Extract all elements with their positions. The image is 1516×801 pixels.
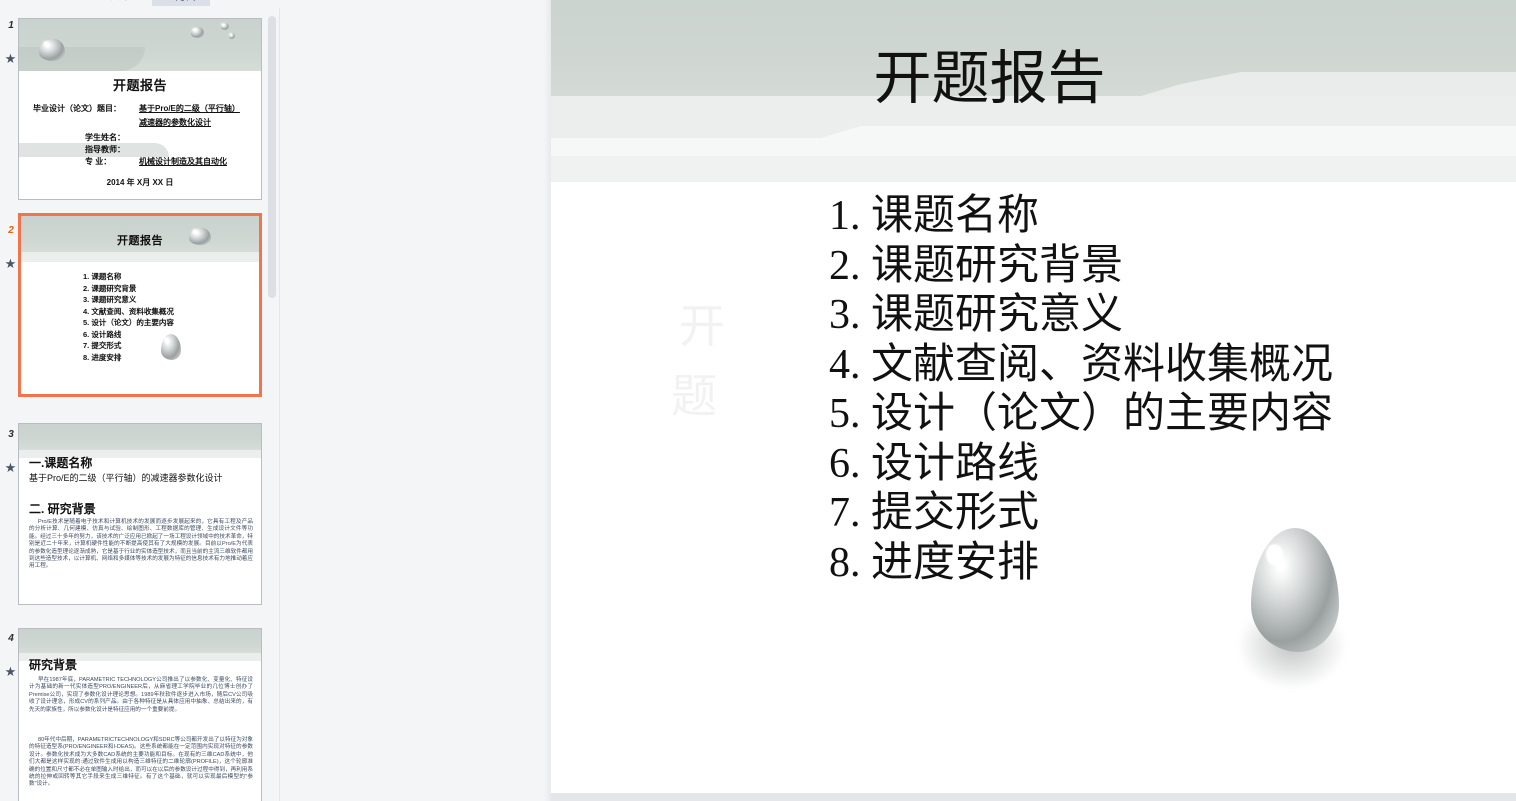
slide-1-line-label-4: 专 业： [85,156,111,167]
list-item-label: 进度安排 [871,540,1039,586]
slide-1-line-value-1: 减速器的参数化设计 [139,117,211,128]
list-item: 2.课题研究背景 [829,242,1333,292]
list-item-index: 5. [829,390,871,440]
water-drop-icon [229,33,235,39]
list-item-label: 设计路线 [871,441,1039,487]
slide-3-body-2: Pro/E技术是随着电子技术和计算机技术的发展而逐步发展起来的，它具有工程及产品… [29,519,253,571]
slide-thumbnail-2[interactable]: 开题报告 1. 课题名称 2. 课题研究背景 3. 课题研究意义 4. 文献查阅… [18,213,262,397]
slide-gutter: 1 ★ 2 ★ 3 ★ 4 ★ [0,8,18,801]
water-drop-icon [39,39,65,61]
slide-number-2: 2 [4,225,18,236]
list-item: 1. 课题名称 [83,271,174,283]
header-band [19,424,261,450]
header-band-2 [21,252,259,262]
list-item-index: 4. [829,341,871,391]
band-4 [551,156,1516,182]
star-icon: ★ [3,665,18,679]
star-icon: ★ [3,52,18,66]
slide-1-line-label-0: 毕业设计（论文）题目： [33,103,121,114]
list-item: 4.文献查阅、资料收集概况 [829,341,1333,391]
list-item: 6. 设计路线 [83,329,174,341]
tab-outline[interactable]: 大纲 [96,0,146,6]
list-item-index: 3. [829,291,871,341]
view-tab-bar: 大纲 幻灯片 [0,0,290,8]
water-drop-icon [221,23,229,30]
list-item-index: 7. [829,489,871,539]
slide-2-agenda-list: 1. 课题名称 2. 课题研究背景 3. 课题研究意义 4. 文献查阅、资料收集… [83,271,174,363]
slide-number-4: 4 [4,633,18,644]
list-item: 7. 提交形式 [83,340,174,352]
list-item: 6.设计路线 [829,440,1333,490]
slide-1-title: 开题报告 [19,75,261,94]
watermark-text: 题 [671,360,717,426]
list-item-label: 课题研究背景 [871,243,1123,289]
list-item: 2. 课题研究背景 [83,283,174,295]
list-item: 8.进度安排 [829,539,1333,589]
slide-1-date: 2014 年 X月 XX 日 [19,177,261,188]
slide-thumbnail-1[interactable]: 开题报告 毕业设计（论文）题目： 基于Pro/E的二级（平行轴） 减速器的参数化… [18,18,262,200]
slide-bottom-edge [551,793,1516,801]
slide-1-preview: 开题报告 毕业设计（论文）题目： 基于Pro/E的二级（平行轴） 减速器的参数化… [19,19,261,199]
slide-4-body-1: 早在1987年底，PARAMETRIC TECHNOLOGY公司推出了以参数化、… [29,677,253,714]
list-item-index: 2. [829,242,871,292]
presentation-editor: 大纲 幻灯片 1 ★ 2 ★ 3 ★ 4 ★ [0,0,1516,801]
list-item: 4. 文献查阅、资料收集概况 [83,306,174,318]
slide-number-3: 3 [4,429,18,440]
list-item-label: 提交形式 [871,490,1039,536]
slide-number-1: 1 [4,20,18,31]
water-drop-icon [191,27,204,38]
slide-1-line-value-4: 机械设计制造及其自动化 [139,156,227,167]
list-item: 5.设计（论文）的主要内容 [829,390,1333,440]
slide-1-line-label-3: 指导教师： [85,144,125,155]
list-item: 7.提交形式 [829,489,1333,539]
slide-canvas: 开题报告 开 题 1.课题名称 2.课题研究背景 3.课题研究意义 4.文献查阅 [280,0,1516,801]
slide-3-body-1: 基于Pro/E的二级（平行轴）的减速器参数化设计 [29,472,251,484]
list-item-label: 课题名称 [871,193,1039,239]
agenda-list: 1.课题名称 2.课题研究背景 3.课题研究意义 4.文献查阅、资料收集概况 5… [829,192,1333,588]
scrollbar-thumb[interactable] [268,16,276,298]
list-item-index: 8. [829,539,871,589]
list-item: 1.课题名称 [829,192,1333,242]
swoop-shape [19,47,145,71]
slide-3-preview: 一.课题名称 基于Pro/E的二级（平行轴）的减速器参数化设计 二. 研究背景 … [19,424,261,604]
list-item: 3. 课题研究意义 [83,294,174,306]
star-icon: ★ [3,257,18,271]
list-item: 3.课题研究意义 [829,291,1333,341]
list-item-index: 1. [829,192,871,242]
header-band [19,629,261,653]
list-item: 8. 进度安排 [83,352,174,364]
slide-thumbnail-4[interactable]: 研究背景 早在1987年底，PARAMETRIC TECHNOLOGY公司推出了… [18,628,262,801]
list-item: 5. 设计（论文）的主要内容 [83,317,174,329]
list-item-label: 设计（论文）的主要内容 [871,391,1333,437]
slide-2-preview: 开题报告 1. 课题名称 2. 课题研究背景 3. 课题研究意义 4. 文献查阅… [21,216,259,394]
watermark-text: 开 [679,290,725,356]
tab-slides[interactable]: 幻灯片 [152,0,210,6]
list-item-label: 课题研究意义 [871,292,1123,338]
slide-thumbnail-rail[interactable]: 1 ★ 2 ★ 3 ★ 4 ★ 开题报告 毕业设计（论文）题目： [0,8,276,801]
slide-thumbnail-3[interactable]: 一.课题名称 基于Pro/E的二级（平行轴）的减速器参数化设计 二. 研究背景 … [18,423,262,605]
slide-4-body-2: 80年代中后期，PARAMETRICTECHNOLOGY和SDRC等公司都开发出… [29,737,253,789]
slide-4-heading-1: 研究背景 [29,656,77,673]
slide-title: 开题报告 [551,44,1516,114]
thumbnail-scrollbar[interactable] [266,8,278,801]
star-icon: ★ [3,461,18,475]
slide-1-line-value-0: 基于Pro/E的二级（平行轴） [139,103,240,114]
slide-1-line-label-2: 学生姓名： [85,132,125,143]
slide-4-preview: 研究背景 早在1987年底，PARAMETRIC TECHNOLOGY公司推出了… [19,629,261,801]
slide-3-heading-1: 一.课题名称 [29,454,92,471]
list-item-label: 文献查阅、资料收集概况 [871,342,1333,388]
active-slide[interactable]: 开题报告 开 题 1.课题名称 2.课题研究背景 3.课题研究意义 4.文献查阅 [551,0,1516,793]
slide-2-title: 开题报告 [21,232,259,248]
slide-3-heading-2: 二. 研究背景 [29,500,96,517]
list-item-index: 6. [829,440,871,490]
